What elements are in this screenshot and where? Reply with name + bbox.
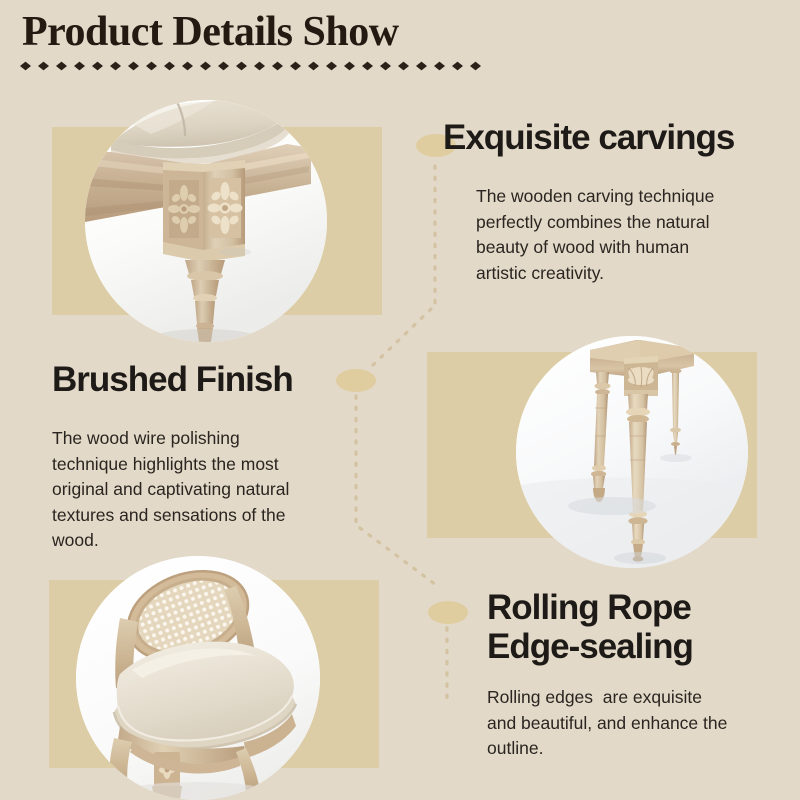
bullet-marker-2 bbox=[336, 369, 376, 392]
title-decorative-diamond-rule bbox=[16, 59, 492, 73]
chair-seat-cane-back-photo bbox=[76, 556, 320, 800]
turned-chair-legs-photo bbox=[516, 336, 748, 568]
product-details-infographic: Product Details Show bbox=[0, 0, 800, 800]
carved-chair-corner-photo bbox=[85, 100, 327, 342]
section-body-3: Rolling edges are exquisite and beautifu… bbox=[487, 685, 777, 762]
page-title: Product Details Show bbox=[22, 8, 399, 56]
section-heading-3: Rolling Rope Edge-sealing bbox=[487, 588, 747, 666]
section-body-2: The wood wire polishing technique highli… bbox=[52, 426, 352, 554]
section-body-1: The wooden carving technique perfectly c… bbox=[476, 184, 776, 286]
section-heading-1: Exquisite carvings bbox=[443, 118, 734, 157]
section-heading-2: Brushed Finish bbox=[52, 360, 293, 399]
bullet-marker-3 bbox=[428, 601, 468, 624]
